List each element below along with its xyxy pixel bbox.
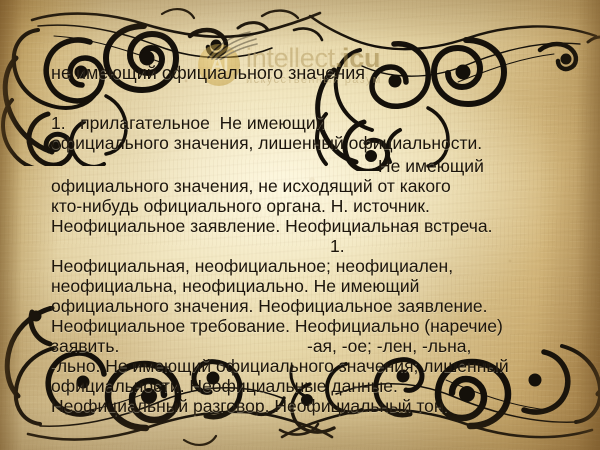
text-line: Неофициальное требование. Неофициально (…	[51, 316, 503, 336]
text-line: официальности. Неофициальные данные.	[51, 376, 398, 396]
text-line: Неофициальная, неофициальное; неофициале…	[51, 256, 453, 276]
text-line: кто-нибудь официального органа. Н. источ…	[51, 196, 430, 216]
text-line: 1. прилагательное Не имеющий	[51, 113, 325, 133]
slide-canvas: AI intellect.icu искусственный разум не …	[0, 0, 600, 450]
slide-text-body: не имеющий официального значения 1. прил…	[0, 0, 600, 450]
text-line: заявить.	[51, 336, 119, 356]
text-line: неофициальна, неофициально. Не имеющий	[51, 276, 419, 296]
text-line-suffixes: -ая, -ое; -лен, -льна,	[307, 336, 471, 356]
text-line: -льно. Не имеющий официального значения;…	[51, 356, 509, 376]
text-line: официального значения, лишенный официаль…	[51, 133, 482, 153]
text-line: Неофициальное заявление. Неофициальная в…	[51, 216, 492, 236]
text-line: Не имеющий	[378, 156, 484, 176]
text-line-marker: 1.	[330, 236, 345, 256]
page-title: не имеющий официального значения	[51, 63, 365, 83]
text-line: Неофициальный разговор. Неофициальный то…	[51, 396, 448, 416]
text-line: официального значения, не исходящий от к…	[51, 176, 451, 196]
text-line: официального значения. Неофициальное зая…	[51, 296, 488, 316]
